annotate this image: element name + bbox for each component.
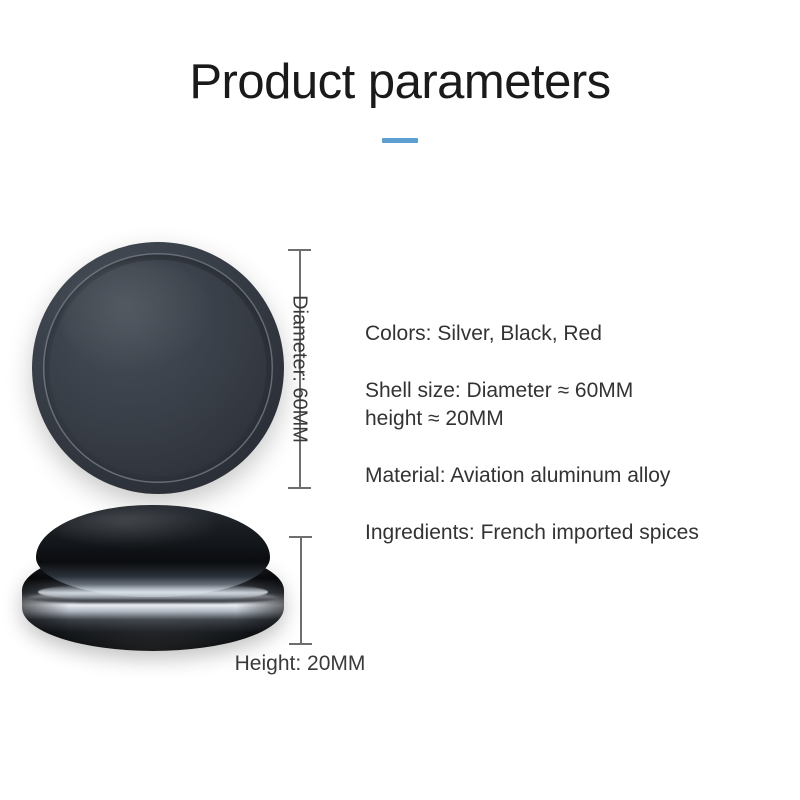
height-dimension-line bbox=[300, 537, 302, 644]
puck-lid-gloss bbox=[55, 511, 223, 548]
diameter-cap-bottom bbox=[288, 487, 311, 489]
height-cap-bottom bbox=[289, 643, 312, 645]
spec-item-ingredients: Ingredients: French imported spices bbox=[365, 519, 795, 547]
disc-sheen bbox=[62, 262, 218, 378]
spec-item-shell-size: Shell size: Diameter ≈ 60MM height ≈ 20M… bbox=[365, 377, 795, 433]
page-title: Product parameters bbox=[0, 56, 800, 110]
diameter-label: Diameter: 60MM bbox=[288, 295, 311, 443]
product-side-view bbox=[22, 505, 284, 653]
height-cap-top bbox=[289, 536, 312, 538]
title-accent-bar bbox=[382, 138, 418, 143]
height-label: Height: 20MM bbox=[235, 652, 366, 676]
spec-list: Colors: Silver, Black, Red Shell size: D… bbox=[365, 320, 795, 547]
diameter-cap-top bbox=[288, 249, 311, 251]
spec-item-colors: Colors: Silver, Black, Red bbox=[365, 320, 795, 348]
spec-item-material: Material: Aviation aluminum alloy bbox=[365, 462, 795, 490]
puck-lid-edge-highlight bbox=[38, 585, 268, 599]
product-parameters-page: Product parameters Diameter: 60MM Height… bbox=[0, 0, 800, 800]
puck-lid bbox=[36, 505, 270, 597]
product-top-view bbox=[32, 242, 284, 494]
